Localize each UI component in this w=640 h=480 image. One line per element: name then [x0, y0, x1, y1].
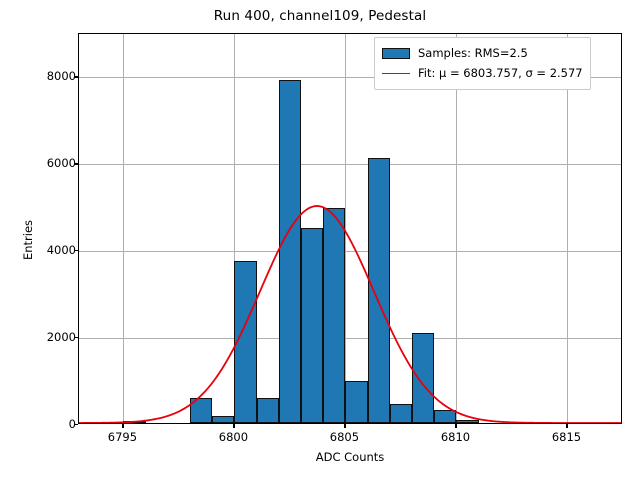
y-tick-label: 8000: [16, 69, 76, 83]
x-tick-mark: [233, 424, 234, 428]
legend-line-icon: [382, 73, 410, 74]
legend-item-samples: Samples: RMS=2.5: [382, 43, 583, 63]
legend-label-samples: Samples: RMS=2.5: [418, 46, 528, 60]
x-tick-label: 6815: [531, 430, 601, 444]
x-tick-mark: [344, 424, 345, 428]
x-tick-label: 6795: [87, 430, 157, 444]
x-tick-label: 6805: [309, 430, 379, 444]
x-axis-label: ADC Counts: [78, 450, 622, 464]
x-tick-mark: [122, 424, 123, 428]
plot-area: [78, 33, 622, 424]
y-tick-label: 0: [16, 417, 76, 431]
x-tick-mark: [455, 424, 456, 428]
y-tick-label: 6000: [16, 156, 76, 170]
chart-title: Run 400, channel109, Pedestal: [0, 8, 640, 24]
x-tick-label: 6800: [198, 430, 268, 444]
legend-item-fit: Fit: μ = 6803.757, σ = 2.577: [382, 63, 583, 83]
x-tick-label: 6810: [420, 430, 490, 444]
legend-label-fit: Fit: μ = 6803.757, σ = 2.577: [418, 66, 583, 80]
gaussian-fit-curve: [79, 34, 621, 423]
y-tick-label: 4000: [16, 243, 76, 257]
figure-canvas: Run 400, channel109, Pedestal Entries AD…: [0, 0, 640, 480]
y-tick-label: 2000: [16, 330, 76, 344]
x-tick-mark: [566, 424, 567, 428]
legend: Samples: RMS=2.5 Fit: μ = 6803.757, σ = …: [374, 37, 591, 90]
legend-patch-icon: [382, 48, 410, 59]
